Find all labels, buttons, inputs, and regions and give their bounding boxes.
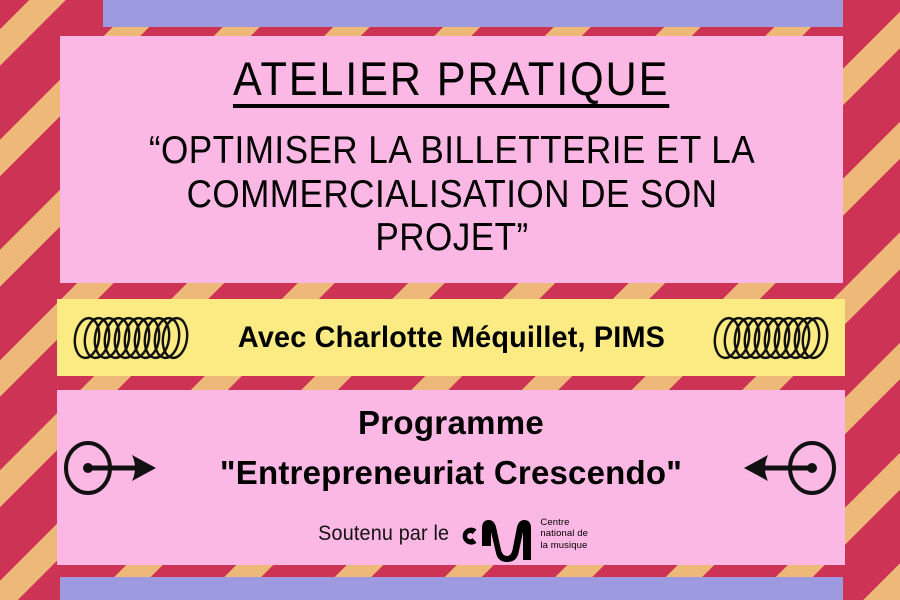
support-row: Soutenu par le Centre national de la mus… <box>314 506 588 562</box>
programme-label: Programme <box>358 404 544 442</box>
coil-icon <box>71 308 191 368</box>
speaker-name: Avec Charlotte Méquillet, PIMS <box>237 321 664 355</box>
workshop-subtitle: “OPTIMISER LA BILLETTERIE ET LA COMMERCI… <box>105 129 798 259</box>
support-prefix-text: Soutenu par le <box>318 522 449 546</box>
bottom-purple-band <box>60 577 843 600</box>
cnm-logo-text: Centre national de la musique <box>540 517 588 552</box>
speaker-band: Avec Charlotte Méquillet, PIMS <box>57 299 845 376</box>
cnm-logo-mark <box>461 506 533 562</box>
circle-arrow-left-icon <box>742 440 838 496</box>
programme-band: Programme "Entrepreneuriat Crescendo" So… <box>57 390 845 565</box>
poster: ATELIER PRATIQUE “OPTIMISER LA BILLETTER… <box>0 0 900 600</box>
coil-icon <box>711 308 831 368</box>
page-title: ATELIER PRATIQUE <box>233 54 669 103</box>
programme-name: "Entrepreneuriat Crescendo" <box>220 454 682 492</box>
cnm-logo: Centre national de la musique <box>461 506 588 562</box>
circle-arrow-right-icon <box>62 440 158 496</box>
top-purple-band <box>103 0 843 27</box>
title-band: ATELIER PRATIQUE “OPTIMISER LA BILLETTER… <box>60 36 843 283</box>
